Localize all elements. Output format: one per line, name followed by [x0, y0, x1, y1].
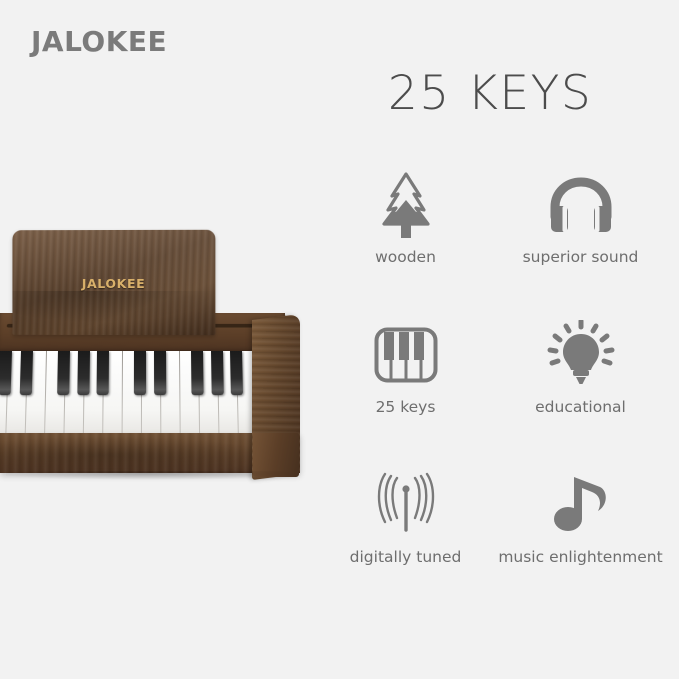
black-key [0, 351, 12, 395]
black-key [191, 351, 204, 395]
feature-item-educational: educational [493, 310, 668, 460]
feature-label: educational [535, 398, 626, 416]
music-note-icon [548, 468, 614, 542]
black-key [211, 351, 224, 395]
pine-tree-icon [374, 168, 438, 242]
feature-item-superior-sound: superior sound [493, 160, 668, 310]
black-key [20, 351, 33, 395]
black-key [154, 351, 166, 395]
feature-item-music-enlightenment: music enlightenment [493, 460, 668, 610]
feature-item-wooden: wooden [318, 160, 493, 310]
black-key [97, 351, 109, 395]
feature-grid: wooden superior sound [318, 160, 668, 610]
drop-shadow [6, 471, 298, 480]
headphones-icon [545, 168, 617, 242]
feature-item-25-keys: 25 keys [318, 310, 493, 460]
lightbulb-icon [545, 318, 617, 392]
product-feature-infographic: JALOKEE 25 KEYS JALOKEE [0, 0, 679, 679]
music-stand-panel: JALOKEE [12, 230, 215, 335]
piano-keys-icon [373, 318, 439, 392]
feature-label: wooden [375, 248, 436, 266]
feature-label: digitally tuned [350, 548, 462, 566]
feature-label: music enlightenment [498, 548, 662, 566]
black-key [57, 351, 70, 395]
feature-label: 25 keys [376, 398, 436, 416]
black-key [230, 351, 243, 395]
black-key [77, 351, 90, 395]
stand-brand-logo: JALOKEE [12, 276, 215, 291]
white-keys [0, 351, 292, 445]
feature-label: superior sound [523, 248, 639, 266]
brand-wordmark: JALOKEE [31, 25, 167, 58]
product-image-piano: JALOKEE [0, 225, 312, 495]
page-title: 25 KEYS [340, 66, 640, 121]
wood-grain [12, 291, 215, 327]
antenna-signal-icon [370, 468, 442, 542]
black-key [134, 351, 146, 395]
piano-keybed [0, 351, 292, 445]
feature-item-digitally-tuned: digitally tuned [318, 460, 493, 610]
